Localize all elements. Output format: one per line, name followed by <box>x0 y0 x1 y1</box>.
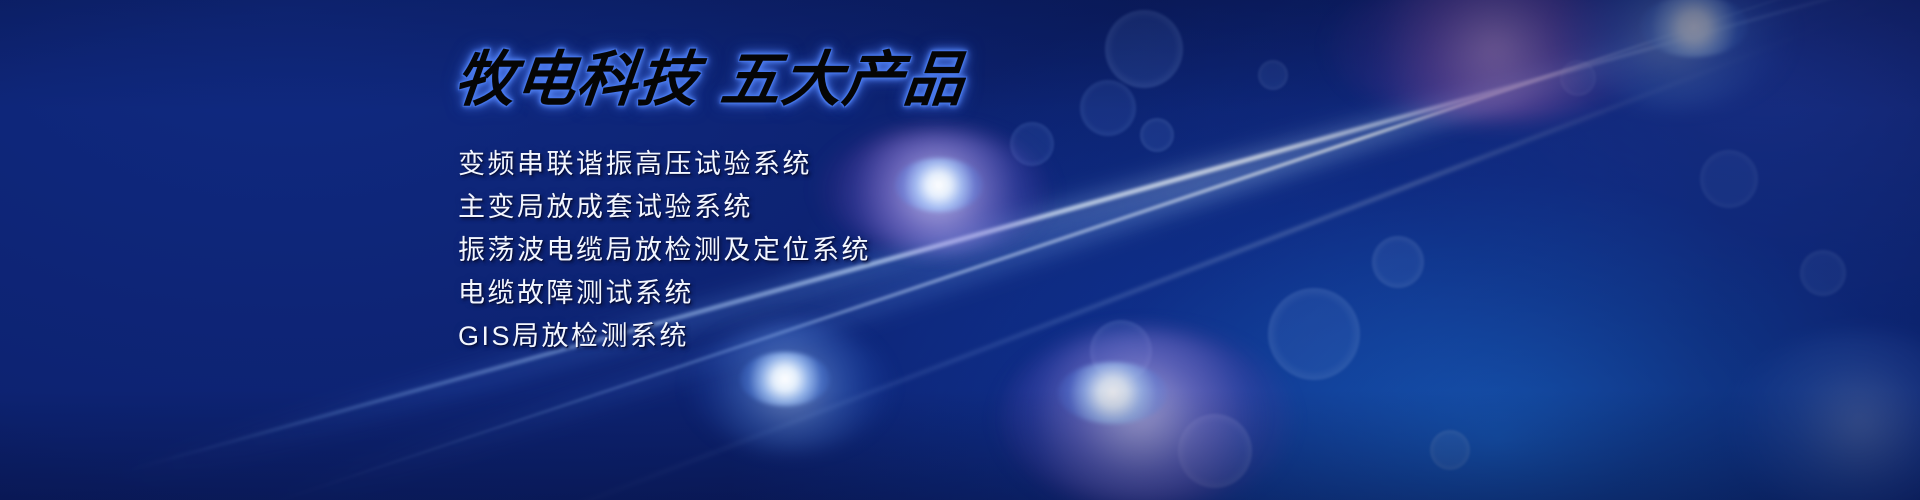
product-list-item: 振荡波电缆局放检测及定位系统 <box>458 229 871 272</box>
banner-title-part1: 牧电科技 <box>451 45 702 115</box>
banner-title: 牧电科技五大产品 <box>452 50 968 110</box>
promo-banner: 牧电科技五大产品 变频串联谐振高压试验系统 主变局放成套试验系统 振荡波电缆局放… <box>0 0 1920 500</box>
banner-content: 牧电科技五大产品 变频串联谐振高压试验系统 主变局放成套试验系统 振荡波电缆局放… <box>0 0 1920 500</box>
product-list-item: 主变局放成套试验系统 <box>458 186 871 229</box>
product-list: 变频串联谐振高压试验系统 主变局放成套试验系统 振荡波电缆局放检测及定位系统 电… <box>458 143 871 358</box>
product-list-item: 变频串联谐振高压试验系统 <box>458 143 871 186</box>
product-list-item: GIS局放检测系统 <box>458 315 871 358</box>
banner-title-part2: 五大产品 <box>717 45 968 115</box>
product-list-item: 电缆故障测试系统 <box>458 272 871 315</box>
